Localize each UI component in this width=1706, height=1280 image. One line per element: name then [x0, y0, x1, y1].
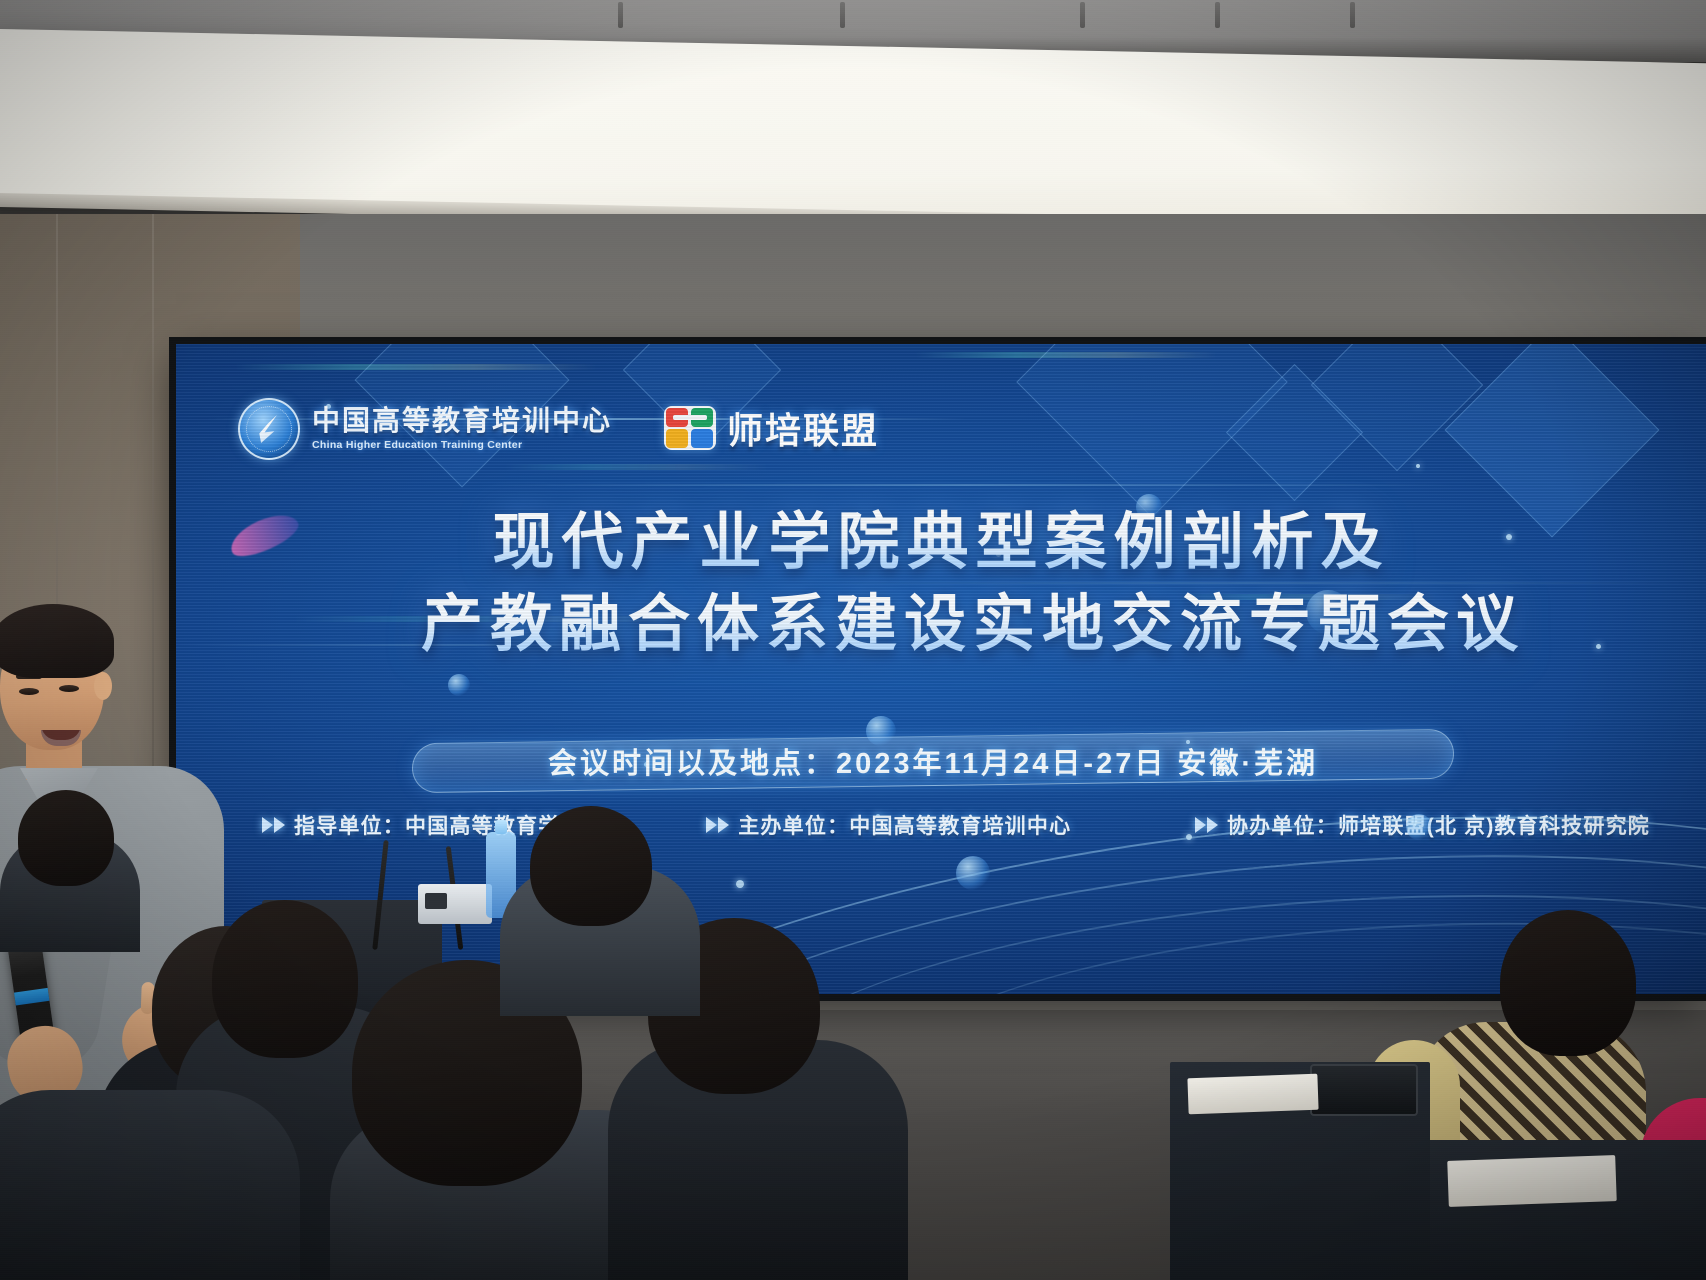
ceiling-fixture-icon [840, 2, 845, 28]
title-line-2: 产教融合体系建设实地交流专题会议 [240, 584, 1706, 666]
ceiling-fixture-icon [618, 2, 623, 28]
led-display-screen: 中国高等教育培训中心 China Higher Education Traini… [176, 344, 1706, 994]
presenter-hair [0, 604, 114, 678]
audience-head [18, 790, 114, 886]
date-location-banner: 会议时间以及地点：2023年11月24日-27日 安徽·芜湖 [412, 729, 1454, 794]
audience-head [530, 806, 652, 926]
audience-head [1500, 910, 1636, 1056]
bg-particle [1416, 464, 1420, 468]
bg-glitch-band [916, 352, 1216, 358]
title-line-1: 现代产业学院典型案例剖析及 [176, 502, 1706, 584]
date-location-text: 会议时间以及地点：2023年11月24日-27日 安徽·芜湖 [548, 740, 1318, 782]
ceiling-fixture-icon [1215, 2, 1220, 28]
presenter-eye [19, 688, 39, 695]
logo-shipei-alliance: 师培联盟 [664, 402, 879, 460]
presenter-ear [94, 672, 112, 700]
logo-china-higher-education: 中国高等教育培训中心 China Higher Education Traini… [238, 398, 612, 460]
audience-shoulders [0, 1090, 300, 1280]
table-paper [1447, 1155, 1617, 1207]
bg-particle [1186, 834, 1192, 840]
logo-cn-text: 师培联盟 [727, 402, 879, 454]
bg-bokeh [448, 674, 470, 696]
ceiling-fixture-icon [1080, 2, 1085, 28]
bg-light-streak [476, 484, 1456, 486]
bg-glitch-band [236, 364, 596, 370]
logo-cn-text: 中国高等教育培训中心 [312, 407, 612, 435]
presenter-mouth [41, 730, 81, 746]
ceiling-fixture-group [0, 0, 1706, 30]
table-tablet [1310, 1064, 1418, 1116]
screen-logo-row: 中国高等教育培训中心 China Higher Education Traini… [238, 398, 879, 460]
shipei-alliance-blocks-icon [664, 406, 716, 450]
audience-head [212, 900, 358, 1058]
bg-particle [736, 880, 744, 888]
desk-device [418, 884, 492, 924]
bg-bokeh [956, 856, 990, 890]
table-paper [1187, 1074, 1318, 1115]
screen-title-block: 现代产业学院典型案例剖析及 产教融合体系建设实地交流专题会议 [176, 502, 1706, 666]
ceiling-fixture-icon [1350, 2, 1355, 28]
presenter-eye [59, 685, 79, 692]
bg-bokeh [1406, 814, 1432, 840]
logo-en-text: China Higher Education Training Center [312, 440, 612, 451]
photo-scene: 中国高等教育培训中心 China Higher Education Traini… [0, 0, 1706, 1280]
bg-glitch-band [506, 464, 766, 470]
china-higher-education-seal-icon [238, 398, 300, 460]
